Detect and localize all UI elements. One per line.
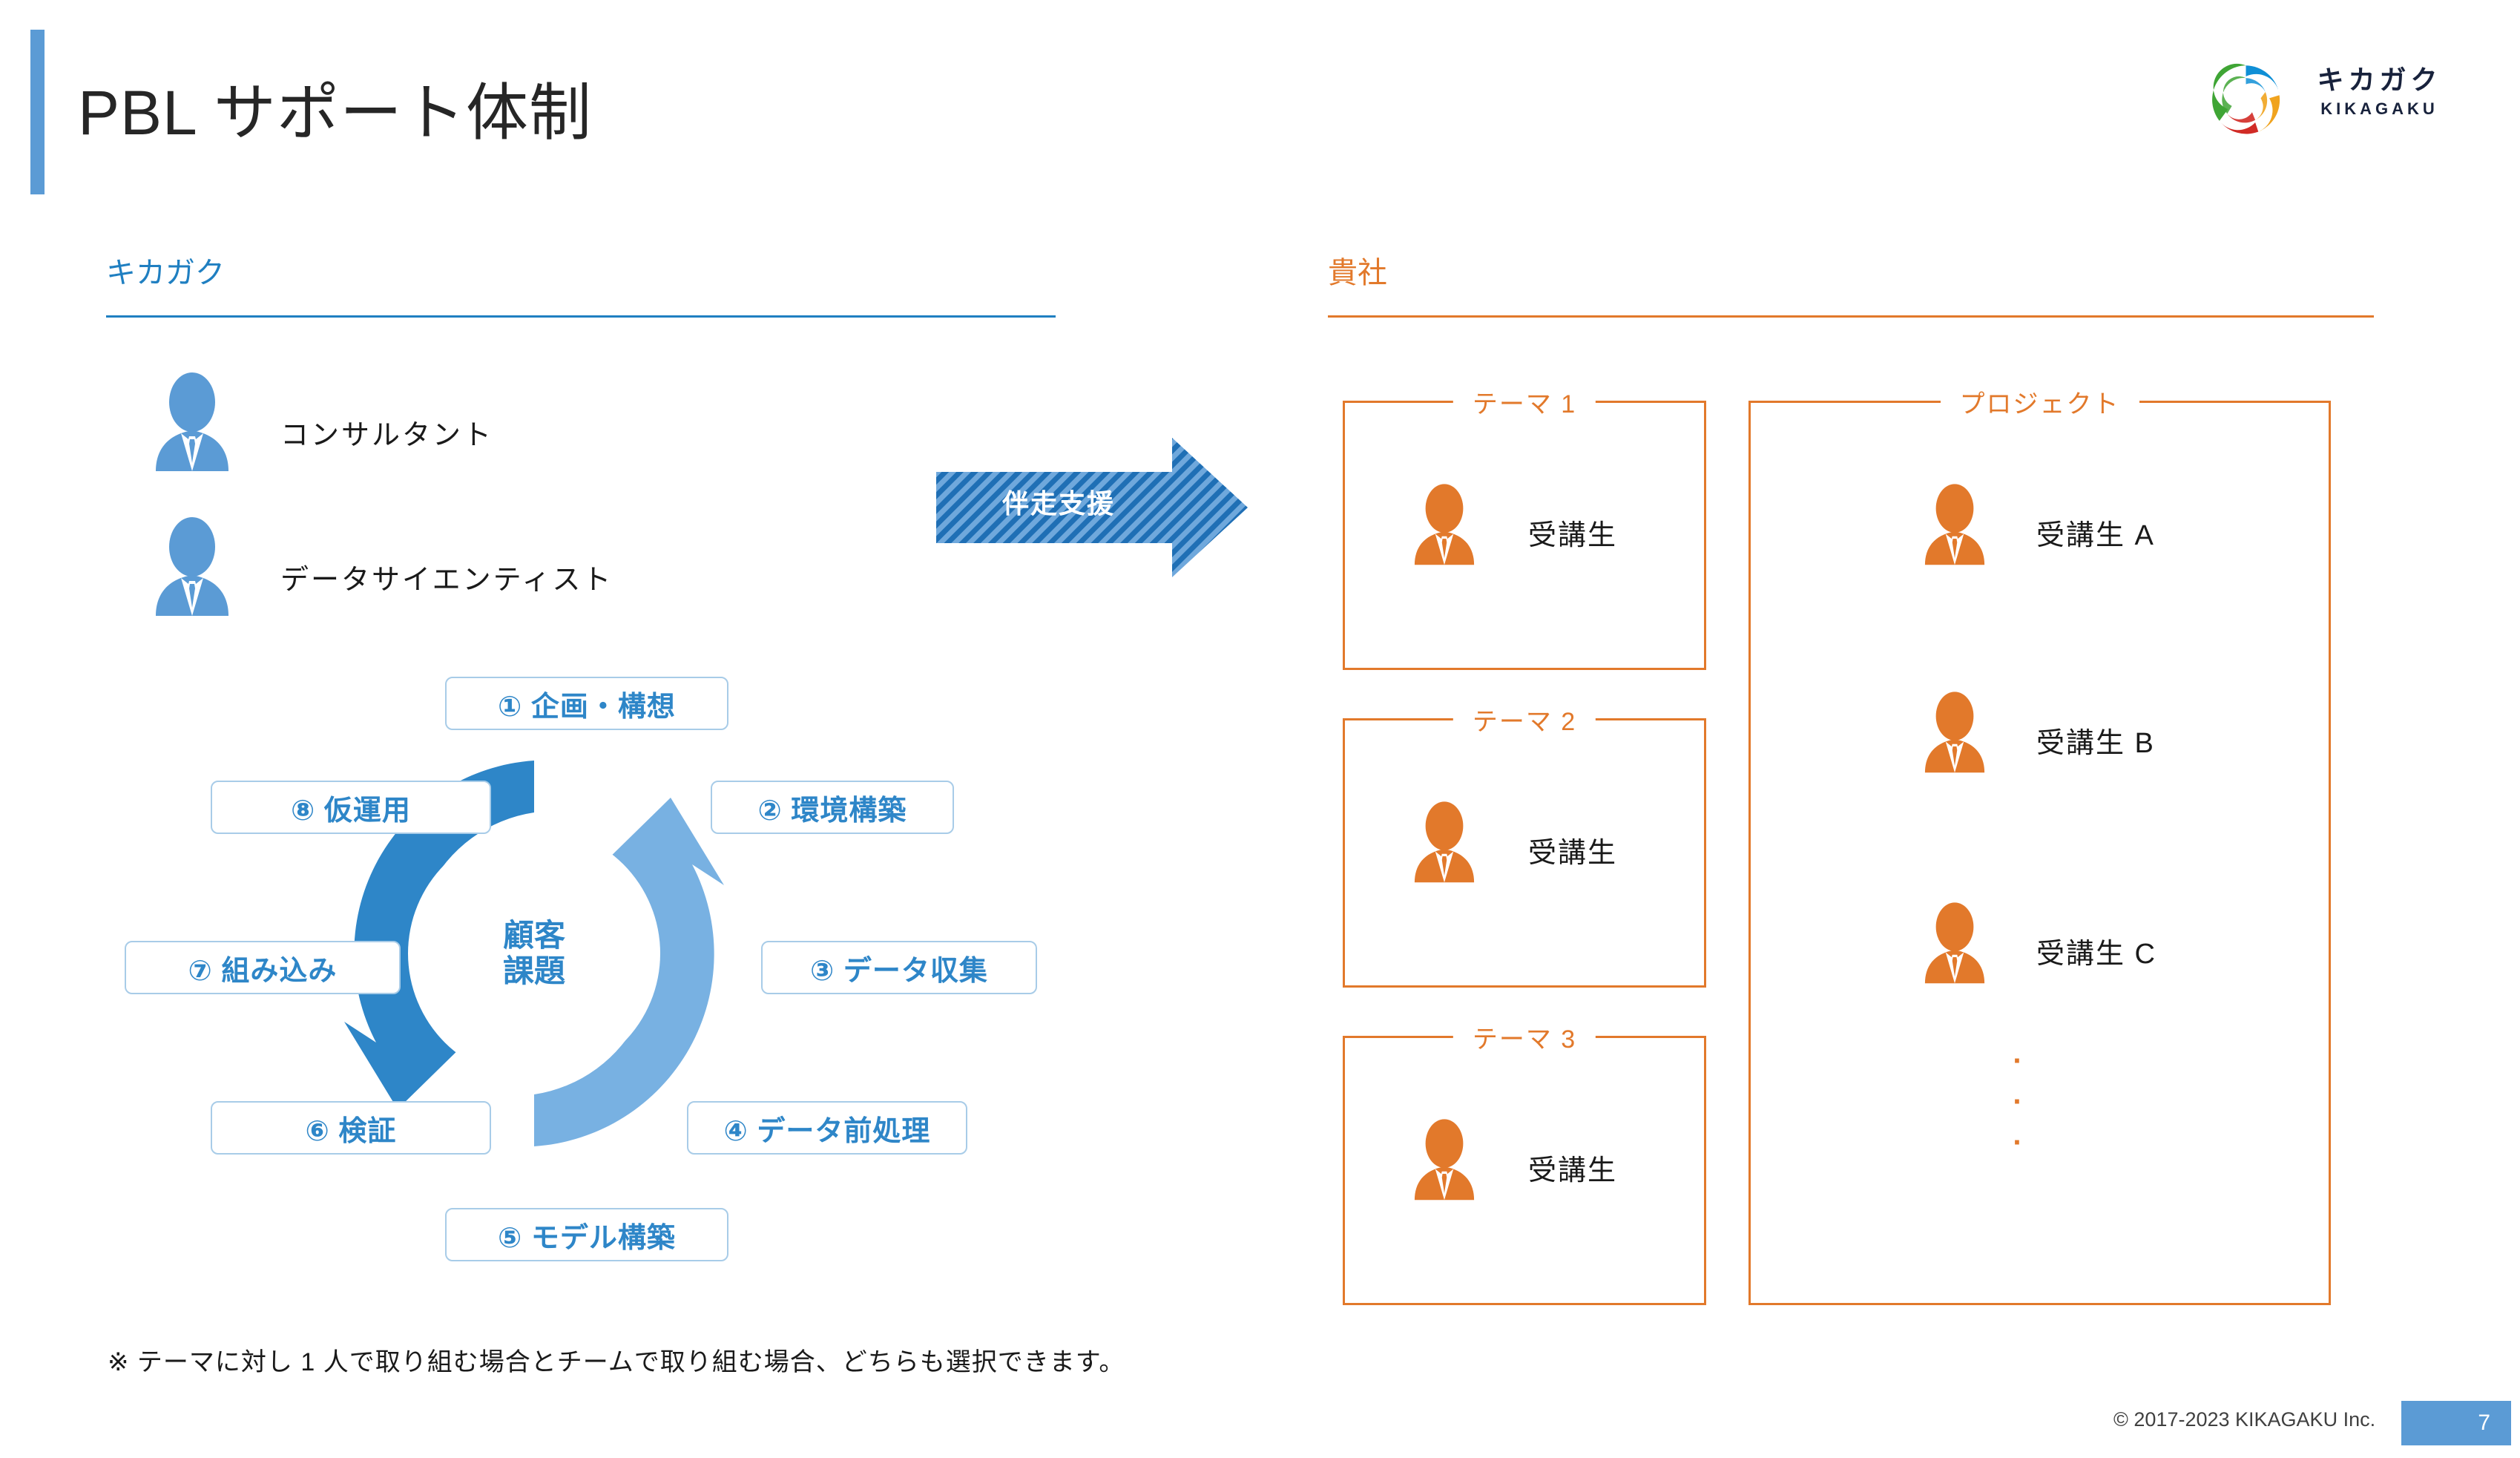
theme-box-1: テーマ 1 <box>1343 401 1706 670</box>
page-number: 7 <box>2401 1401 2511 1445</box>
section-header-client: 貴社 <box>1328 249 2374 292</box>
role-label-data-scientist: データサイエンティスト <box>280 556 613 597</box>
theme-box-3-legend: テーマ 3 <box>1453 1019 1596 1055</box>
logo-roman: KIKAGAKU <box>2296 99 2463 119</box>
person-orange-icon <box>1411 1117 1478 1201</box>
person-blue-icon <box>151 371 233 471</box>
project-ellipsis-dot-1: · <box>2003 1039 2033 1083</box>
section-header-client-label: 貴社 <box>1328 249 2374 292</box>
theme-box-2-member: 受講生 <box>1528 830 1617 870</box>
person-orange-icon <box>1411 800 1478 883</box>
kikagaku-logo: キカガク KIKAGAKU <box>2207 61 2463 142</box>
section-header-kikagaku-label: キカガク <box>106 249 1056 292</box>
theme-box-3-member: 受講生 <box>1528 1147 1617 1188</box>
theme-box-1-legend: テーマ 1 <box>1453 384 1596 420</box>
theme-box-1-member: 受講生 <box>1528 512 1617 553</box>
slide-canvas: PBL サポート体制 キカガク KIKAGAKU キカガク 貴社 <box>0 0 2520 1458</box>
person-orange-icon <box>1921 690 1988 773</box>
footnote: ※ テーマに対し 1 人で取り組む場合とチームで取り組む場合、どちらも選択できま… <box>108 1342 1125 1378</box>
person-orange-icon <box>1921 482 1988 565</box>
cycle-step-7: ⑦ 組み込み <box>125 941 401 994</box>
cycle-step-6: ⑥ 検証 <box>211 1101 491 1155</box>
logo-wordmark: キカガク KIKAGAKU <box>2296 65 2463 119</box>
project-box-legend: プロジェクト <box>1941 384 2139 420</box>
cycle-step-2: ② 環境構築 <box>711 781 954 834</box>
title-accent-bar <box>30 30 45 194</box>
project-ellipsis-dot-2: · <box>2003 1080 2033 1124</box>
theme-box-2: テーマ 2 <box>1343 718 1706 988</box>
support-arrow-icon <box>936 433 1248 582</box>
logo-kana: キカガク <box>2296 65 2463 95</box>
footer-copyright: © 2017-2023 KIKAGAKU Inc. <box>2113 1408 2375 1431</box>
cycle-step-3: ③ データ収集 <box>761 941 1037 994</box>
theme-box-2-legend: テーマ 2 <box>1453 701 1596 738</box>
theme-box-3: テーマ 3 <box>1343 1036 1706 1305</box>
project-member-b: 受講生 B <box>2036 720 2155 761</box>
person-blue-icon <box>151 516 233 616</box>
kikagaku-swirl-icon <box>2207 61 2285 139</box>
cycle-step-5: ⑤ モデル構築 <box>445 1208 728 1261</box>
section-header-client-rule <box>1328 315 2374 318</box>
project-member-a: 受講生 A <box>2036 512 2155 553</box>
cycle-step-1: ① 企画・構想 <box>445 677 728 730</box>
project-ellipsis-dot-3: · <box>2003 1120 2033 1165</box>
cycle-step-8: ⑧ 仮運用 <box>211 781 491 834</box>
cycle-step-4: ④ データ前処理 <box>687 1101 967 1155</box>
project-member-c: 受講生 C <box>2036 930 2157 971</box>
role-label-consultant: コンサルタント <box>280 412 493 453</box>
page-title: PBL サポート体制 <box>78 63 592 153</box>
section-header-kikagaku-rule <box>106 315 1056 318</box>
person-orange-icon <box>1411 482 1478 565</box>
person-orange-icon <box>1921 901 1988 984</box>
section-header-kikagaku: キカガク <box>106 249 1056 292</box>
